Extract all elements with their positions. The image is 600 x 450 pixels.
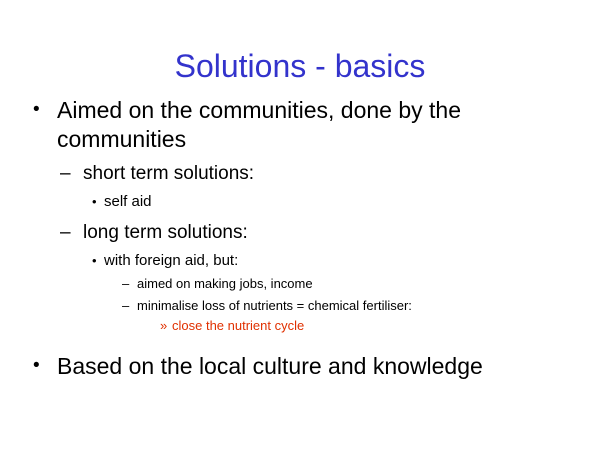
slide-body-content: • Aimed on the communities, done by the … bbox=[0, 96, 600, 383]
bullet-marker-dash-icon: – bbox=[122, 297, 137, 315]
bullet-marker-dash-icon: – bbox=[60, 161, 83, 186]
bullet-item-level2: – long term solutions: bbox=[0, 220, 600, 245]
bullet-marker-double-angle-icon: » bbox=[160, 317, 172, 335]
bullet-text: close the nutrient cycle bbox=[172, 317, 304, 335]
bullet-marker-dot-icon: • bbox=[92, 191, 104, 212]
bullet-text: short term solutions: bbox=[83, 161, 254, 186]
bullet-item-level4: – aimed on making jobs, income bbox=[0, 275, 600, 293]
bullet-marker-dot-icon: • bbox=[33, 352, 57, 381]
slide-title: Solutions - basics bbox=[0, 47, 600, 85]
bullet-text: self aid bbox=[104, 191, 152, 212]
bullet-text: aimed on making jobs, income bbox=[137, 275, 313, 293]
bullet-marker-dot-icon: • bbox=[92, 250, 104, 271]
bullet-item-level1: • Based on the local culture and knowled… bbox=[0, 352, 600, 381]
bullet-item-level1: • Aimed on the communities, done by the … bbox=[0, 96, 600, 153]
bullet-text: Aimed on the communities, done by the co… bbox=[57, 96, 535, 153]
bullet-marker-dash-icon: – bbox=[122, 275, 137, 293]
bullet-text: long term solutions: bbox=[83, 220, 248, 245]
bullet-item-level5-highlight: » close the nutrient cycle bbox=[0, 317, 600, 335]
bullet-text: with foreign aid, but: bbox=[104, 250, 238, 271]
bullet-text: minimalise loss of nutrients = chemical … bbox=[137, 297, 412, 315]
bullet-marker-dash-icon: – bbox=[60, 220, 83, 245]
bullet-marker-dot-icon: • bbox=[33, 96, 57, 125]
bullet-item-level4: – minimalise loss of nutrients = chemica… bbox=[0, 297, 600, 315]
presentation-slide: Solutions - basics • Aimed on the commun… bbox=[0, 0, 600, 450]
bullet-item-level3: • with foreign aid, but: bbox=[0, 250, 600, 271]
bullet-text: Based on the local culture and knowledge bbox=[57, 352, 483, 381]
bullet-item-level2: – short term solutions: bbox=[0, 161, 600, 186]
bullet-item-level3: • self aid bbox=[0, 191, 600, 212]
